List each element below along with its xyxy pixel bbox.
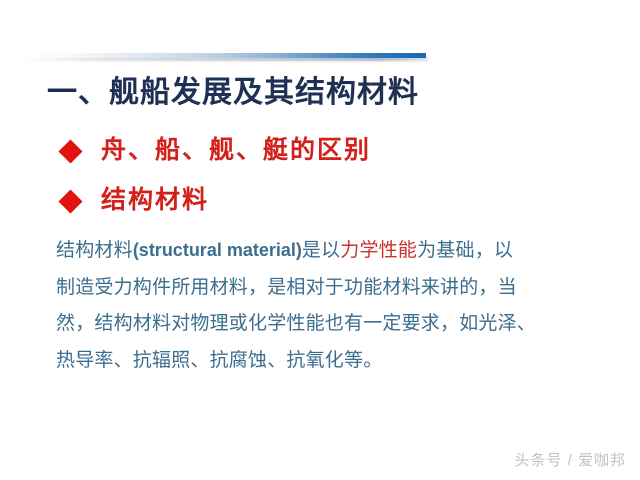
bullet-item-2: 结构材料 — [62, 186, 209, 216]
body-text-segment: 为基础，以 — [417, 240, 513, 261]
body-text-segment: 结构材料 — [56, 240, 133, 261]
gradient-rule — [18, 53, 426, 62]
body-text-segment: (structural material) — [133, 240, 302, 260]
body-text-segment: 力学性能 — [340, 240, 417, 261]
watermark: 头条号 / 爱咖邦 — [514, 449, 626, 470]
body-text-segment: 是以 — [302, 240, 340, 261]
body-line: 然，结构材料对物理或化学性能也有一定要求，如光泽、 — [56, 306, 543, 343]
bullet-item-1: 舟、船、舰、艇的区别 — [62, 136, 371, 166]
body-text-segment: 然，结构材料对物理或化学性能也有一定要求，如光泽、 — [56, 313, 536, 334]
diamond-bullet-icon — [58, 189, 82, 213]
body-line: 结构材料(structural material)是以力学性能为基础，以 — [56, 232, 543, 270]
body-line: 制造受力构件所用材料，是相对于功能材料来讲的，当 — [56, 270, 543, 307]
body-text-segment: 热导率、抗辐照、抗腐蚀、抗氧化等。 — [56, 350, 382, 371]
diamond-bullet-icon — [58, 139, 82, 163]
body-text-segment: 制造受力构件所用材料，是相对于功能材料来讲的，当 — [56, 277, 517, 298]
page-title: 一、舰船发展及其结构材料 — [47, 74, 419, 112]
body-line: 热导率、抗辐照、抗腐蚀、抗氧化等。 — [56, 343, 543, 380]
slide-canvas: 一、舰船发展及其结构材料 舟、船、舰、艇的区别 结构材料 结构材料(struct… — [0, 0, 640, 480]
bullet-item-2-label: 结构材料 — [101, 186, 209, 216]
bullet-item-1-label: 舟、船、舰、艇的区别 — [101, 136, 371, 166]
gradient-rule-line — [18, 53, 426, 58]
body-paragraph: 结构材料(structural material)是以力学性能为基础，以 制造受… — [56, 232, 543, 379]
